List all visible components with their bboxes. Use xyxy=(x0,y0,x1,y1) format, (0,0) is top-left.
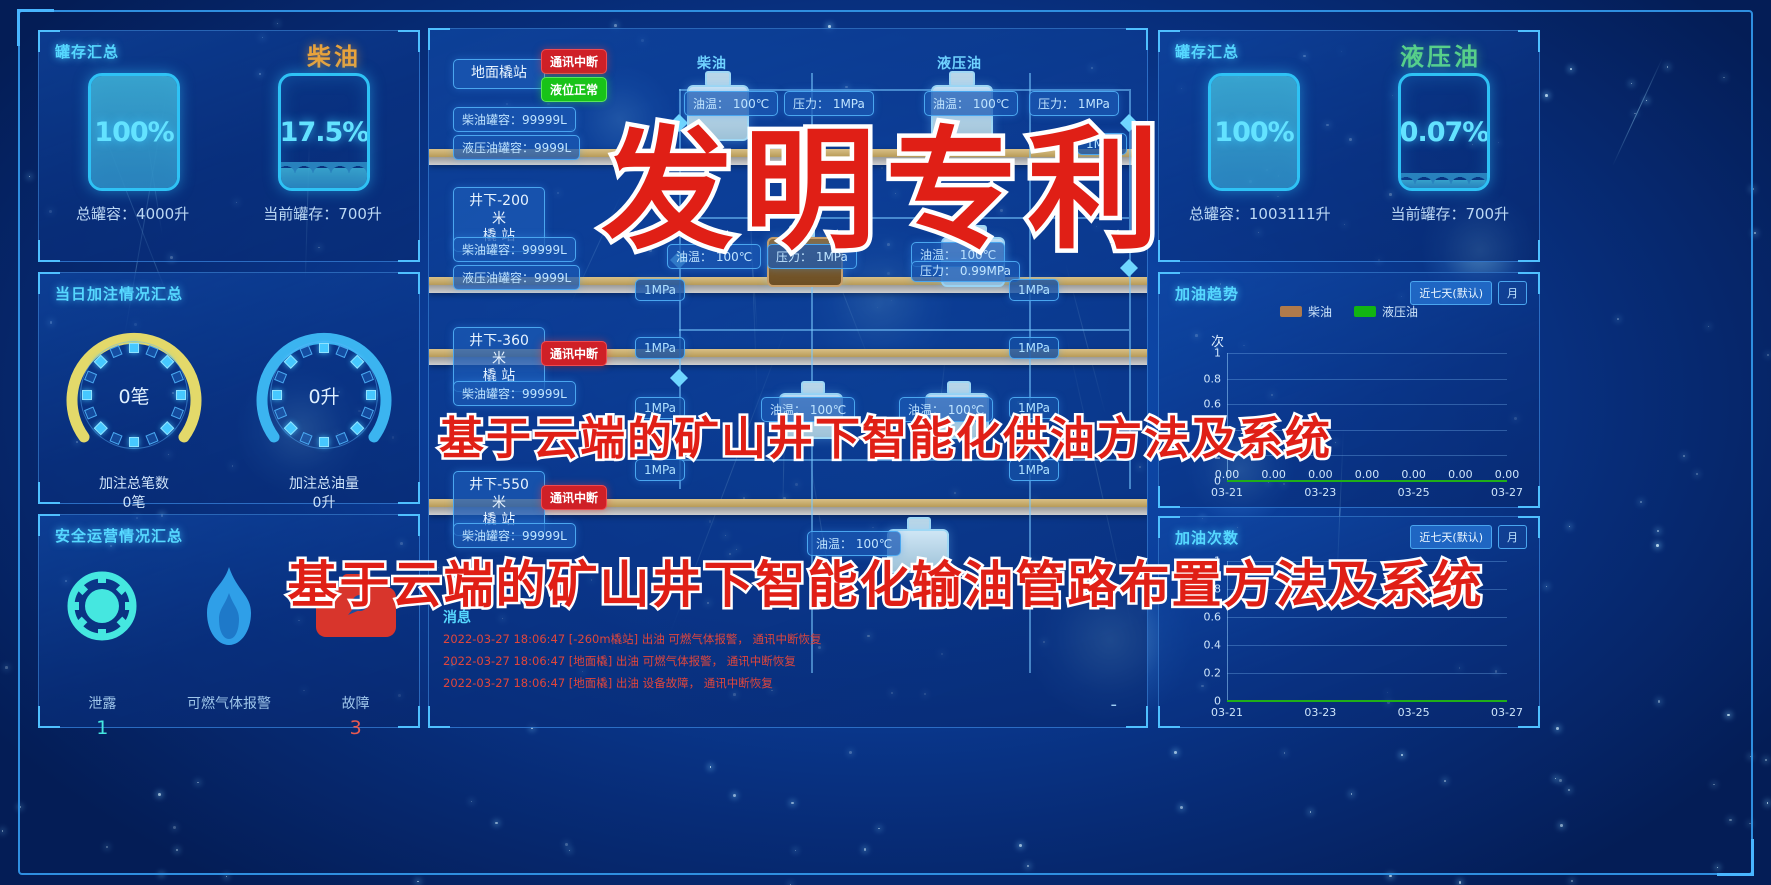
gauge-caption-title: 加注总油量 xyxy=(289,475,359,494)
tank-gauge-row: 100% 0.07% xyxy=(1159,73,1539,191)
grid-line xyxy=(1227,645,1507,646)
legend-label: 柴油 xyxy=(1308,303,1332,320)
pressure-tag: 1MPa xyxy=(635,279,685,301)
grid-line xyxy=(1227,673,1507,674)
gauge-caption-value: 0笔 xyxy=(99,494,169,513)
panel-title-daily: 当日加注情况汇总 xyxy=(55,283,183,304)
range-button-month[interactable]: 月 xyxy=(1498,525,1527,549)
right-tank-summary-panel: 罐存汇总 液压油 100% 0.07% 总罐容：1003111升 当前罐存：70… xyxy=(1158,30,1540,262)
product-label-hydraulic: 液压油 xyxy=(1400,37,1481,72)
y-axis-tick: 0.4 xyxy=(1204,639,1222,652)
zoom-out-button[interactable]: - xyxy=(1111,694,1118,715)
dashboard-root: 柴油 液压油 油温： 100℃ 压力： 1MPa 油温： 100℃ 压力： 1M… xyxy=(0,0,1771,885)
series-line-液压油 xyxy=(1227,700,1507,702)
panel-title-tank-summary: 罐存汇总 xyxy=(55,41,119,62)
station-tank-capacity: 柴油罐容：99999L xyxy=(453,237,576,262)
gear-icon xyxy=(46,563,158,649)
tank-gauge-total: 100% xyxy=(88,73,180,191)
panel-title-trend: 加油趋势 xyxy=(1175,283,1239,304)
range-button-week[interactable]: 近七天(默认) xyxy=(1410,281,1492,305)
left-tank-summary-panel: 罐存汇总 柴油 100% 17.5% 总罐容：4000升 当前罐存：700升 xyxy=(38,30,420,262)
legend-swatch xyxy=(1354,306,1376,317)
status-badge-comm-interrupt: 通讯中断 xyxy=(541,49,607,74)
gauge-total-volume: 0升 xyxy=(248,319,400,471)
gauge-value: 0笔 xyxy=(58,319,210,471)
tank-caption-current: 当前罐存：700升 xyxy=(263,203,382,224)
legend-swatch xyxy=(1280,306,1302,317)
gauge-caption-volume: 加注总油量 0升 xyxy=(289,475,359,513)
range-button-month[interactable]: 月 xyxy=(1498,281,1527,305)
status-badge-level-normal: 液位正常 xyxy=(541,77,607,102)
safety-item-leak[interactable]: 泄露 1 xyxy=(46,563,158,739)
right-trend-chart-panel: 加油趋势 近七天(默认) 月 柴油 液压油 次 00.20.40.60.8103… xyxy=(1158,272,1540,508)
message-row: 2022-03-27 18:06:47 [地面橇] 出油 可燃气体报警， 通讯中… xyxy=(443,651,1137,673)
station-name-surface[interactable]: 地面橇站 xyxy=(453,59,545,89)
label-diesel: 柴油 xyxy=(697,53,727,73)
message-row: 2022-03-27 18:06:47 [地面橇] 出油 设备故障， 通讯中断恢… xyxy=(443,673,1137,695)
tank-caption-row: 总罐容：4000升 当前罐存：700升 xyxy=(39,203,419,224)
x-axis-tick: 03-21 xyxy=(1211,706,1243,719)
tank-gauge-total: 100% xyxy=(1208,73,1300,191)
trend-range-buttons: 近七天(默认) 月 xyxy=(1410,281,1527,305)
tank-percent: 100% xyxy=(91,76,177,188)
x-axis-tick: 03-27 xyxy=(1491,706,1523,719)
tank-percent: 17.5% xyxy=(281,76,367,188)
safety-item-gas-alarm[interactable]: 可燃气体报警 xyxy=(173,563,285,739)
grid-line xyxy=(1227,617,1507,618)
tank-caption-current: 当前罐存：700升 xyxy=(1390,203,1509,224)
tank-percent: 100% xyxy=(1211,76,1297,188)
daily-gauge-row: 0笔 0升 xyxy=(39,319,419,471)
gauge-caption-title: 加注总笔数 xyxy=(99,475,169,494)
x-axis-tick: 03-23 xyxy=(1304,486,1336,499)
y-axis-tick: 0.2 xyxy=(1204,667,1222,680)
tank-percent: 0.07% xyxy=(1401,76,1487,188)
tank-caption-total: 总罐容：1003111升 xyxy=(1189,203,1331,224)
safety-value: 3 xyxy=(300,717,412,739)
panel-title-safety: 安全运营情况汇总 xyxy=(55,525,183,546)
y-axis-tick: 1 xyxy=(1214,347,1221,360)
legend-item-diesel[interactable]: 柴油 xyxy=(1280,303,1332,320)
label-hydraulic: 液压油 xyxy=(937,53,982,73)
x-axis-tick: 03-25 xyxy=(1398,706,1430,719)
daily-caption-row: 加注总笔数 0笔 加注总油量 0升 xyxy=(39,475,419,513)
tank-gauge-current: 17.5% xyxy=(278,73,370,191)
grid-line xyxy=(1227,379,1507,380)
status-badge-comm-interrupt: 通讯中断 xyxy=(541,341,607,366)
gauge-caption-value: 0升 xyxy=(289,494,359,513)
x-axis-tick: 03-23 xyxy=(1304,706,1336,719)
legend-label: 液压油 xyxy=(1382,303,1418,320)
y-axis-tick: 0.8 xyxy=(1204,372,1222,385)
pressure-tag: 1MPa xyxy=(635,337,685,359)
watermark-main: 发明专利 xyxy=(602,84,1170,275)
x-axis-tick: 03-27 xyxy=(1491,486,1523,499)
message-row: 2022-03-27 18:06:47 [-260m橇站] 出油 可燃气体报警，… xyxy=(443,629,1137,651)
gauge-caption-count: 加注总笔数 0笔 xyxy=(99,475,169,513)
x-axis-tick: 03-21 xyxy=(1211,486,1243,499)
tank-caption-row: 总罐容：1003111升 当前罐存：700升 xyxy=(1159,203,1539,224)
tank-gauge-current: 0.07% xyxy=(1398,73,1490,191)
safety-value: 1 xyxy=(46,717,158,739)
x-axis-tick: 03-25 xyxy=(1398,486,1430,499)
grid-line xyxy=(1227,353,1507,354)
status-badge-comm-interrupt: 通讯中断 xyxy=(541,485,607,510)
pipe-horizontal-3 xyxy=(679,329,1129,331)
message-list: 2022-03-27 18:06:47 [-260m橇站] 出油 可燃气体报警，… xyxy=(443,629,1137,695)
watermark-line-2: 基于云端的矿山井下智能化输油管路布置方法及系统 xyxy=(288,545,1484,617)
flame-icon xyxy=(173,563,285,649)
panel-title-tank-summary-right: 罐存汇总 xyxy=(1175,41,1239,62)
pressure-tag: 1MPa xyxy=(1009,279,1059,301)
gauge-total-count: 0笔 xyxy=(58,319,210,471)
trend-legend: 柴油 液压油 xyxy=(1280,303,1418,320)
series-line-液压油 xyxy=(1227,480,1507,482)
safety-label: 故障 xyxy=(300,693,412,713)
watermark-line-1: 基于云端的矿山井下智能化供油方法及系统 xyxy=(439,402,1332,467)
left-daily-panel: 当日加注情况汇总 0笔 0升 加注总笔数 0笔 xyxy=(38,272,420,504)
tank-caption-total: 总罐容：4000升 xyxy=(76,203,189,224)
product-label-diesel: 柴油 xyxy=(307,37,361,72)
station-tank-capacity: 液压油罐容：9999L xyxy=(453,265,580,290)
station-tank-capacity: 柴油罐容：99999L xyxy=(453,107,576,132)
tank-gauge-row: 100% 17.5% xyxy=(39,73,419,191)
station-tank-capacity: 液压油罐容：9999L xyxy=(453,135,580,160)
safety-label: 泄露 xyxy=(46,693,158,713)
gauge-value: 0升 xyxy=(248,319,400,471)
safety-label: 可燃气体报警 xyxy=(173,693,285,713)
legend-item-hydraulic[interactable]: 液压油 xyxy=(1354,303,1418,320)
pressure-tag: 1MPa xyxy=(1009,337,1059,359)
